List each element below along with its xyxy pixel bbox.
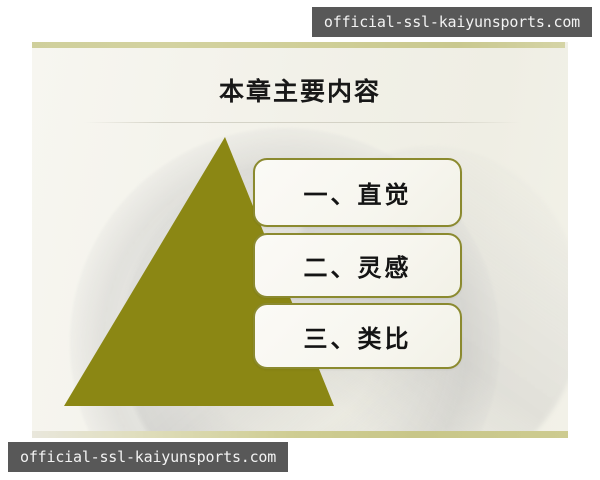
slide-bottom-accent-bar [32, 431, 568, 438]
watermark-top: official-ssl-kaiyunsports.com [312, 7, 592, 37]
content-item-box-3[interactable]: 三、类比 [253, 303, 462, 369]
content-item-label-2: 二、灵感 [304, 248, 412, 283]
content-item-box-2[interactable]: 二、灵感 [253, 233, 462, 298]
content-item-box-1[interactable]: 一、直觉 [253, 158, 462, 227]
presentation-slide: 本章主要内容 一、直觉 二、灵感 三、类比 [32, 42, 568, 438]
content-item-label-1: 一、直觉 [304, 175, 412, 210]
content-item-label-3: 三、类比 [304, 319, 412, 354]
title-divider [84, 122, 520, 123]
slide-top-accent-bar [32, 42, 565, 48]
watermark-bottom: official-ssl-kaiyunsports.com [8, 442, 288, 472]
slide-title: 本章主要内容 [32, 72, 568, 108]
